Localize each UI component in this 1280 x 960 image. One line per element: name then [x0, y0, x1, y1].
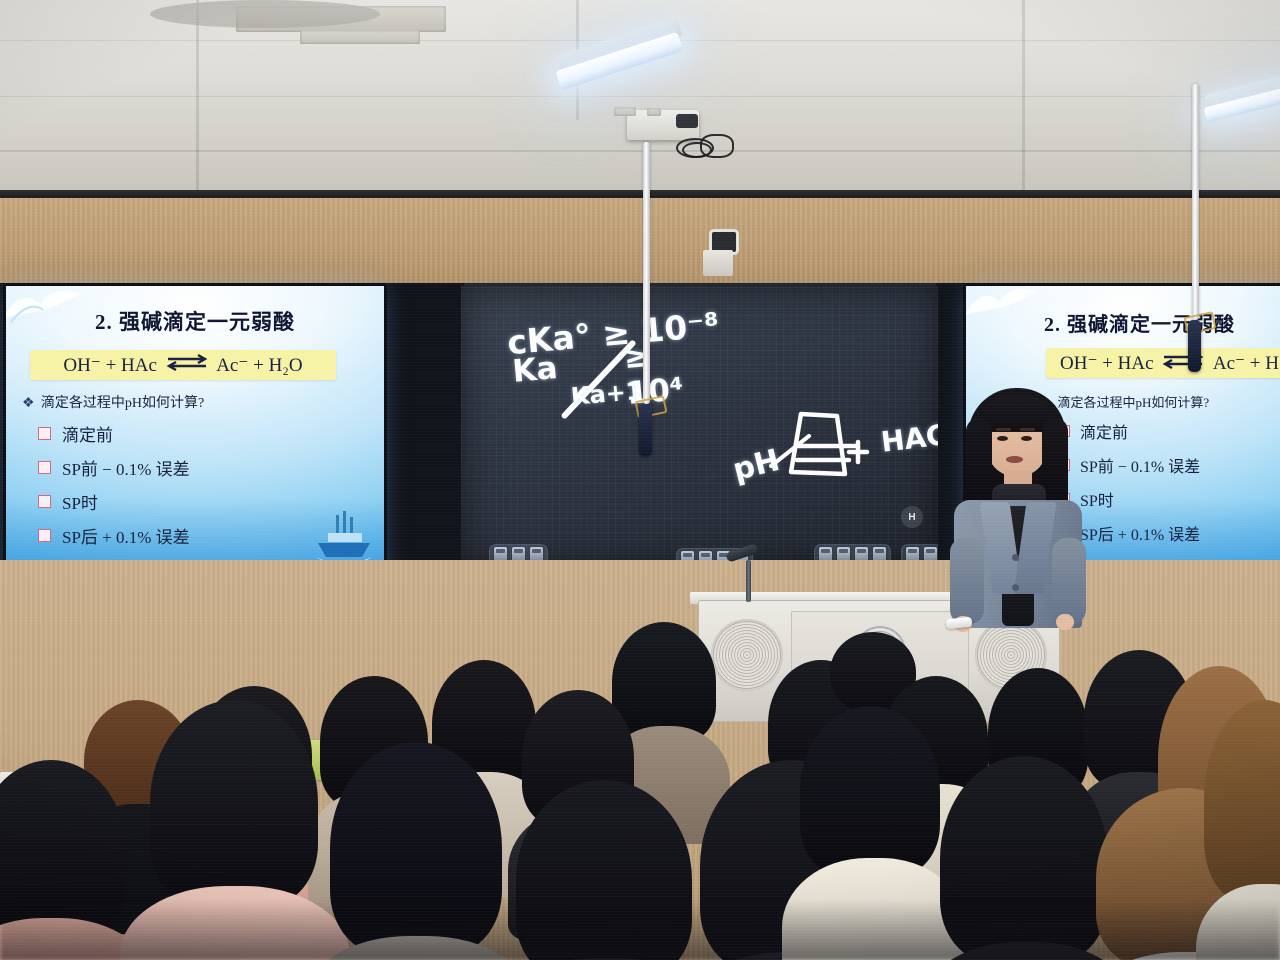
handwriting-hac: HAC	[879, 418, 938, 459]
list-item-label: 滴定前	[1080, 419, 1128, 443]
slide-question-row: ❖滴定各过程中pH如何计算?	[22, 392, 204, 412]
list-item-label: SP时	[62, 489, 98, 514]
instructor-eye	[1021, 436, 1032, 441]
wall-device	[712, 232, 736, 252]
whiteboard-brand-logo: H	[901, 506, 923, 528]
instructor	[950, 388, 1086, 628]
checkbox-square-icon	[38, 461, 51, 474]
classroom-scene: 2. 强碱滴定一元弱酸 OH⁻ + HAc Ac⁻ + H₂O ❖滴定各过程中p…	[0, 0, 1280, 960]
instructor-mouth	[1006, 456, 1023, 463]
checkbox-square-icon	[38, 495, 51, 508]
power-cable	[700, 134, 734, 158]
board-frame-center-left	[382, 283, 464, 583]
list-item-label: SP后 + 0.1% 误差	[1080, 521, 1200, 545]
hanging-mic-pole-center	[643, 142, 650, 404]
list-item-label: SP前 − 0.1% 误差	[1080, 453, 1200, 477]
equation-right: Ac⁻ + H₂O	[216, 354, 302, 377]
equation-right: Ac⁻ + H₂O	[1213, 352, 1280, 375]
student-hair	[150, 700, 318, 906]
wall-bracket	[703, 250, 733, 276]
coat-button	[1012, 554, 1019, 561]
diamond-bullet-icon: ❖	[22, 396, 35, 411]
instructor-brow	[996, 428, 1011, 431]
slide-question: 滴定各过程中pH如何计算?	[41, 396, 204, 411]
hanging-microphone-right	[1188, 320, 1201, 372]
equilibrium-arrow-icon	[164, 352, 210, 378]
list-item-label: SP前 − 0.1% 误差	[62, 455, 190, 480]
instructor-brow	[1020, 428, 1035, 431]
ceiling-seam	[196, 0, 199, 196]
equation-left: OH⁻ + HAc	[63, 354, 157, 377]
ceiling-fitting	[647, 108, 661, 116]
podium-speaker-left	[711, 619, 783, 691]
ceiling-seam	[1022, 0, 1025, 196]
list-item: 滴定前	[38, 416, 190, 450]
instructor-eye	[997, 436, 1008, 441]
slide-title: 2. 强碱滴定一元弱酸	[1044, 308, 1280, 337]
slide-title: 2. 强碱滴定一元弱酸	[6, 306, 384, 336]
equilibrium-equation: OH⁻ + HAc Ac⁻ + H₂O	[1046, 348, 1280, 378]
list-item: SP前 − 0.1% 误差	[38, 450, 190, 484]
equilibrium-equation: OH⁻ + HAc Ac⁻ + H₂O	[30, 350, 336, 380]
double-arrow-svg	[164, 352, 210, 372]
instructor-hand-right	[1056, 614, 1074, 630]
podium-mic-stand	[746, 560, 751, 602]
list-item-label: SP后 + 0.1% 误差	[62, 523, 190, 548]
hanging-microphone-center	[639, 404, 652, 456]
flask-diagram-icon	[763, 408, 883, 494]
projector-indicator	[676, 114, 698, 128]
ceiling-seam	[0, 150, 1280, 152]
equation-left: OH⁻ + HAc	[1060, 352, 1154, 375]
ceiling-vent	[300, 30, 420, 44]
checkbox-square-icon	[38, 529, 51, 542]
slide-bullet-list: 滴定前 SP前 − 0.1% 误差 SP时 SP后 + 0.1% 误差	[38, 416, 190, 552]
checkbox-square-icon	[38, 427, 51, 440]
hanging-mic-pole-right	[1192, 84, 1199, 320]
seagull-icon	[966, 286, 1045, 340]
upper-wood-wall	[0, 198, 1280, 290]
foreground-blur	[0, 900, 1280, 960]
list-item: SP时	[38, 484, 190, 518]
list-item-label: 滴定前	[62, 421, 113, 446]
student-hair	[800, 706, 940, 876]
instructor-arm-left	[950, 538, 984, 624]
list-item: SP后 + 0.1% 误差	[38, 518, 190, 552]
student-hair	[612, 622, 716, 742]
interactive-whiteboard[interactable]: cKa° ≥ 10⁻⁸ Ka Ka+1 ≥ 10⁴ pH HAC H	[461, 286, 938, 568]
instructor-arm-right	[1052, 538, 1086, 624]
seagull-svg	[966, 286, 1044, 335]
left-projection-screen: 2. 强碱滴定一元弱酸 OH⁻ + HAc Ac⁻ + H₂O ❖滴定各过程中p…	[6, 286, 384, 580]
coat-button	[1012, 584, 1019, 591]
ceiling-fan	[150, 0, 380, 28]
